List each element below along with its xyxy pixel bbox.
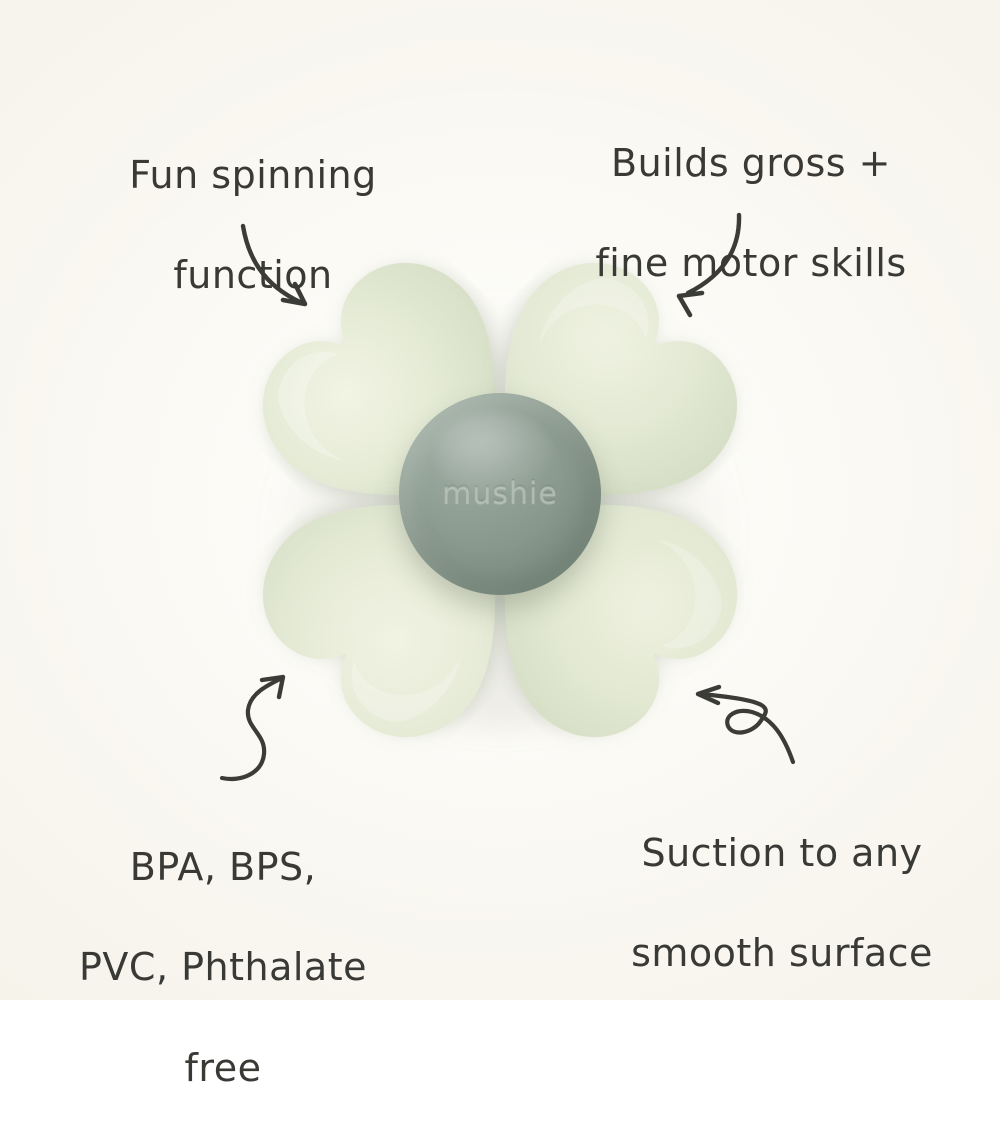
callout-line: Builds gross +	[546, 138, 956, 188]
product-feature-infographic: mushie	[0, 0, 1000, 1000]
callout-fun-spinning-function: Fun spinning function	[88, 100, 418, 351]
callout-line: Suction to any	[592, 828, 972, 878]
callout-builds-motor-skills: Builds gross + fine motor skills	[546, 88, 956, 339]
callout-line: BPA, BPS,	[58, 842, 388, 892]
center-hub-spinner[interactable]: mushie	[399, 393, 601, 595]
callout-bpa-bps-pvc-phthalate-free: BPA, BPS, PVC, Phthalate free	[58, 792, 388, 1143]
callout-suction-smooth-surface: Suction to any smooth surface	[592, 778, 972, 1029]
callout-line: smooth surface	[592, 928, 972, 978]
callout-line: fine motor skills	[546, 238, 956, 288]
callout-line: function	[88, 250, 418, 300]
callout-line: PVC, Phthalate	[58, 942, 388, 992]
callout-line: Fun spinning	[88, 150, 418, 200]
brand-logo-mushie: mushie	[399, 476, 601, 511]
callout-line: free	[58, 1043, 388, 1093]
